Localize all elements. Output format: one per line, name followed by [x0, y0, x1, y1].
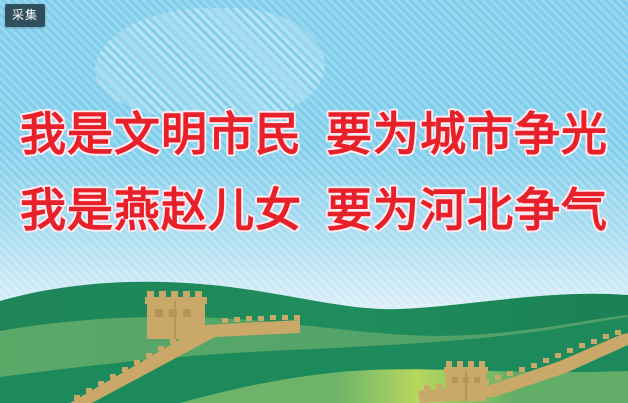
slogan-line-2: 我是燕赵儿女要为河北争气 — [0, 172, 628, 248]
wall-tower-left — [145, 291, 207, 339]
slogan-line-1-left: 我是文明市民 — [20, 107, 302, 161]
capture-button[interactable]: 采集 — [5, 4, 45, 27]
landscape-illustration — [0, 273, 628, 403]
slogan-block: 我是文明市民要为城市争光 我是燕赵儿女要为河北争气 — [0, 96, 628, 248]
wall-tower-right — [444, 361, 488, 401]
propaganda-banner: 采集 我是文明市民要为城市争光 我是燕赵儿女要为河北争气 — [0, 0, 628, 403]
slogan-line-2-right: 要为河北争气 — [326, 183, 608, 237]
slogan-line-1-right: 要为城市争光 — [326, 107, 608, 161]
slogan-line-1: 我是文明市民要为城市争光 — [0, 96, 628, 172]
slogan-line-2-left: 我是燕赵儿女 — [20, 183, 302, 237]
